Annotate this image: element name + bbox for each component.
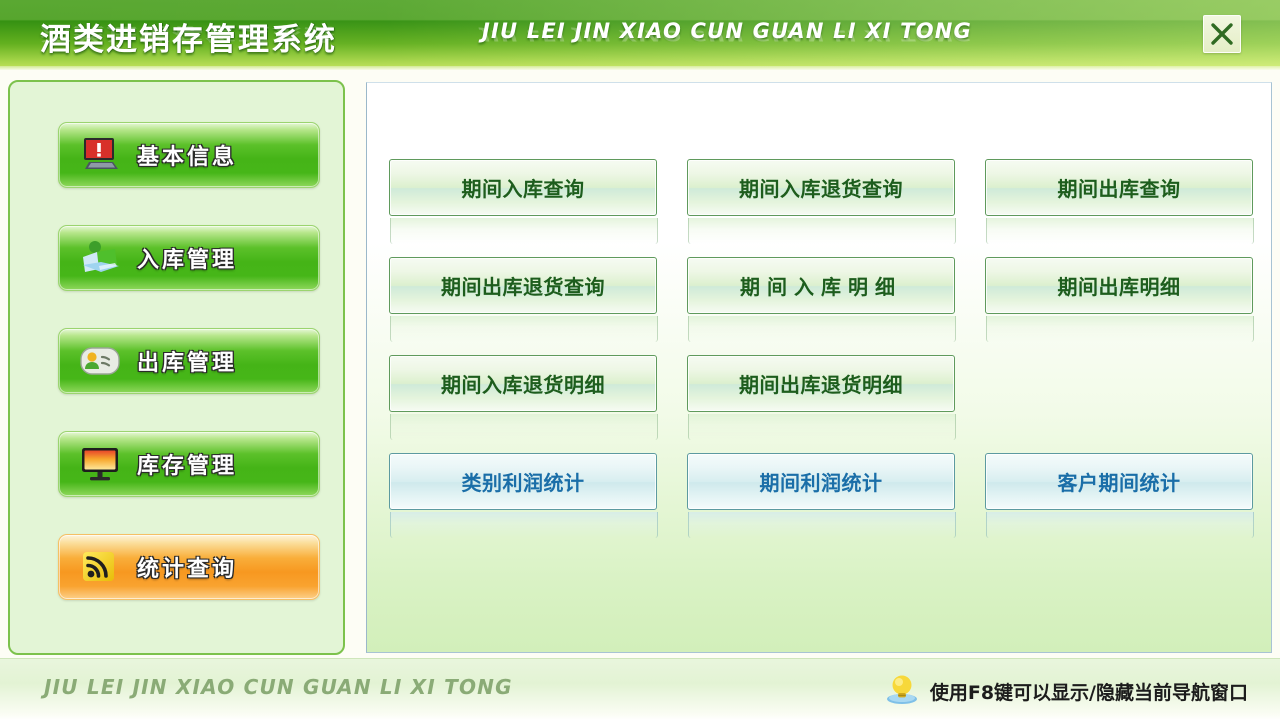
lightbulb-icon bbox=[883, 673, 921, 709]
button-reflection bbox=[688, 218, 956, 244]
sidebar-item-label: 基本信息 bbox=[137, 139, 237, 171]
button-label: 类别利润统计 bbox=[462, 467, 585, 496]
footer-hint: 使用F8键可以显示/隐藏当前导航窗口 bbox=[883, 673, 1248, 709]
button-reflection bbox=[390, 414, 658, 440]
sidebar-panel: 基本信息 入库管理 bbox=[8, 80, 345, 655]
sidebar-item-label: 入库管理 bbox=[137, 242, 237, 274]
button-period-profit-stats[interactable]: 期间利润统计 bbox=[687, 453, 955, 510]
sidebar-item-basic-info[interactable]: 基本信息 bbox=[58, 122, 320, 188]
button-period-outbound-return-detail[interactable]: 期间出库退货明细 bbox=[687, 355, 955, 412]
footer-hint-text: 使用F8键可以显示/隐藏当前导航窗口 bbox=[930, 678, 1248, 705]
app-title-pinyin: JIU LEI JIN XIAO CUN GUAN LI XI TONG bbox=[482, 19, 972, 43]
close-icon bbox=[1204, 16, 1240, 52]
button-period-inbound-query[interactable]: 期间入库查询 bbox=[389, 159, 657, 216]
status-bar: JIU LEI JIN XIAO CUN GUAN LI XI TONG 使用F… bbox=[0, 658, 1280, 720]
button-label: 期间出库退货明细 bbox=[739, 369, 903, 398]
monitor-inventory-icon bbox=[77, 444, 123, 484]
button-category-profit-stats[interactable]: 类别利润统计 bbox=[389, 453, 657, 510]
footer-pinyin: JIU LEI JIN XIAO CUN GUAN LI XI TONG bbox=[44, 675, 513, 699]
rss-statistics-icon bbox=[77, 547, 123, 587]
button-label: 期间出库退货查询 bbox=[441, 271, 605, 300]
button-period-outbound-detail[interactable]: 期间出库明细 bbox=[985, 257, 1253, 314]
grid-row: 期间入库退货明细 期间出库退货明细 bbox=[389, 355, 1255, 412]
grid-row: 期间入库查询 期间入库退货查询 期间出库查询 bbox=[389, 159, 1255, 216]
button-label: 期间入库退货明细 bbox=[441, 369, 605, 398]
user-book-inbound-icon bbox=[77, 238, 123, 278]
button-period-inbound-detail[interactable]: 期间入库明细 bbox=[687, 257, 955, 314]
button-reflection bbox=[390, 218, 658, 244]
sidebar-item-outbound[interactable]: 出库管理 bbox=[58, 328, 320, 394]
button-period-outbound-return-query[interactable]: 期间出库退货查询 bbox=[389, 257, 657, 314]
sidebar-item-inventory[interactable]: 库存管理 bbox=[58, 431, 320, 497]
sidebar-item-label: 统计查询 bbox=[137, 551, 237, 583]
sidebar-item-statistics[interactable]: 统计查询 bbox=[58, 534, 320, 600]
button-period-inbound-return-query[interactable]: 期间入库退货查询 bbox=[687, 159, 955, 216]
button-label: 期间出库明细 bbox=[1058, 271, 1181, 300]
main-content-panel: 期间入库查询 期间入库退货查询 期间出库查询 期间出库退货查询 bbox=[366, 82, 1272, 653]
button-label: 期间出库查询 bbox=[1058, 173, 1181, 202]
query-button-grid: 期间入库查询 期间入库退货查询 期间出库查询 期间出库退货查询 bbox=[389, 159, 1255, 551]
button-reflection bbox=[390, 316, 658, 342]
grid-row: 期间出库退货查询 期间入库明细 期间出库明细 bbox=[389, 257, 1255, 314]
button-label: 期间入库查询 bbox=[462, 173, 585, 202]
app-title-chinese: 酒类进销存管理系统 bbox=[40, 14, 337, 59]
monitor-alert-icon bbox=[77, 135, 123, 175]
button-period-outbound-query[interactable]: 期间出库查询 bbox=[985, 159, 1253, 216]
sidebar-item-inbound[interactable]: 入库管理 bbox=[58, 225, 320, 291]
button-period-inbound-return-detail[interactable]: 期间入库退货明细 bbox=[389, 355, 657, 412]
button-reflection bbox=[688, 414, 956, 440]
button-reflection bbox=[986, 218, 1254, 244]
button-reflection bbox=[986, 316, 1254, 342]
button-reflection bbox=[688, 316, 956, 342]
button-label: 期间入库明细 bbox=[740, 271, 902, 300]
button-reflection bbox=[688, 512, 956, 538]
application-window: 酒类进销存管理系统 酒类进销存管理系统 JIU LEI JIN XIAO CUN… bbox=[0, 0, 1280, 720]
close-button[interactable] bbox=[1203, 15, 1241, 53]
button-label: 期间入库退货查询 bbox=[739, 173, 903, 202]
button-customer-period-stats[interactable]: 客户期间统计 bbox=[985, 453, 1253, 510]
sidebar-item-label: 出库管理 bbox=[137, 345, 237, 377]
button-label: 期间利润统计 bbox=[760, 467, 883, 496]
title-bar: 酒类进销存管理系统 酒类进销存管理系统 JIU LEI JIN XIAO CUN… bbox=[0, 0, 1280, 70]
button-label: 客户期间统计 bbox=[1058, 467, 1181, 496]
button-reflection bbox=[986, 512, 1254, 538]
grid-row: 类别利润统计 期间利润统计 客户期间统计 bbox=[389, 453, 1255, 510]
sidebar-item-label: 库存管理 bbox=[137, 448, 237, 480]
user-contact-outbound-icon bbox=[77, 341, 123, 381]
button-reflection bbox=[390, 512, 658, 538]
